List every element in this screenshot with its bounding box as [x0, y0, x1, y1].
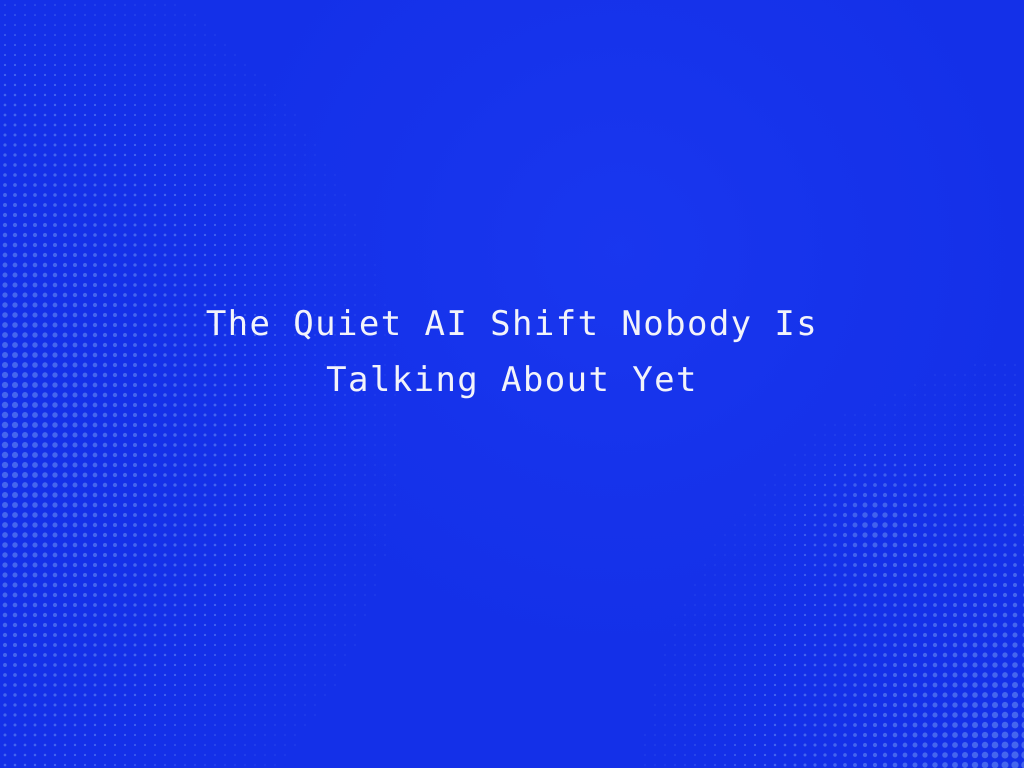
dot-layer	[2, 4, 1024, 768]
halftone-dot-pattern	[0, 0, 1024, 768]
title-card: The Quiet AI Shift Nobody Is Talking Abo…	[0, 0, 1024, 768]
